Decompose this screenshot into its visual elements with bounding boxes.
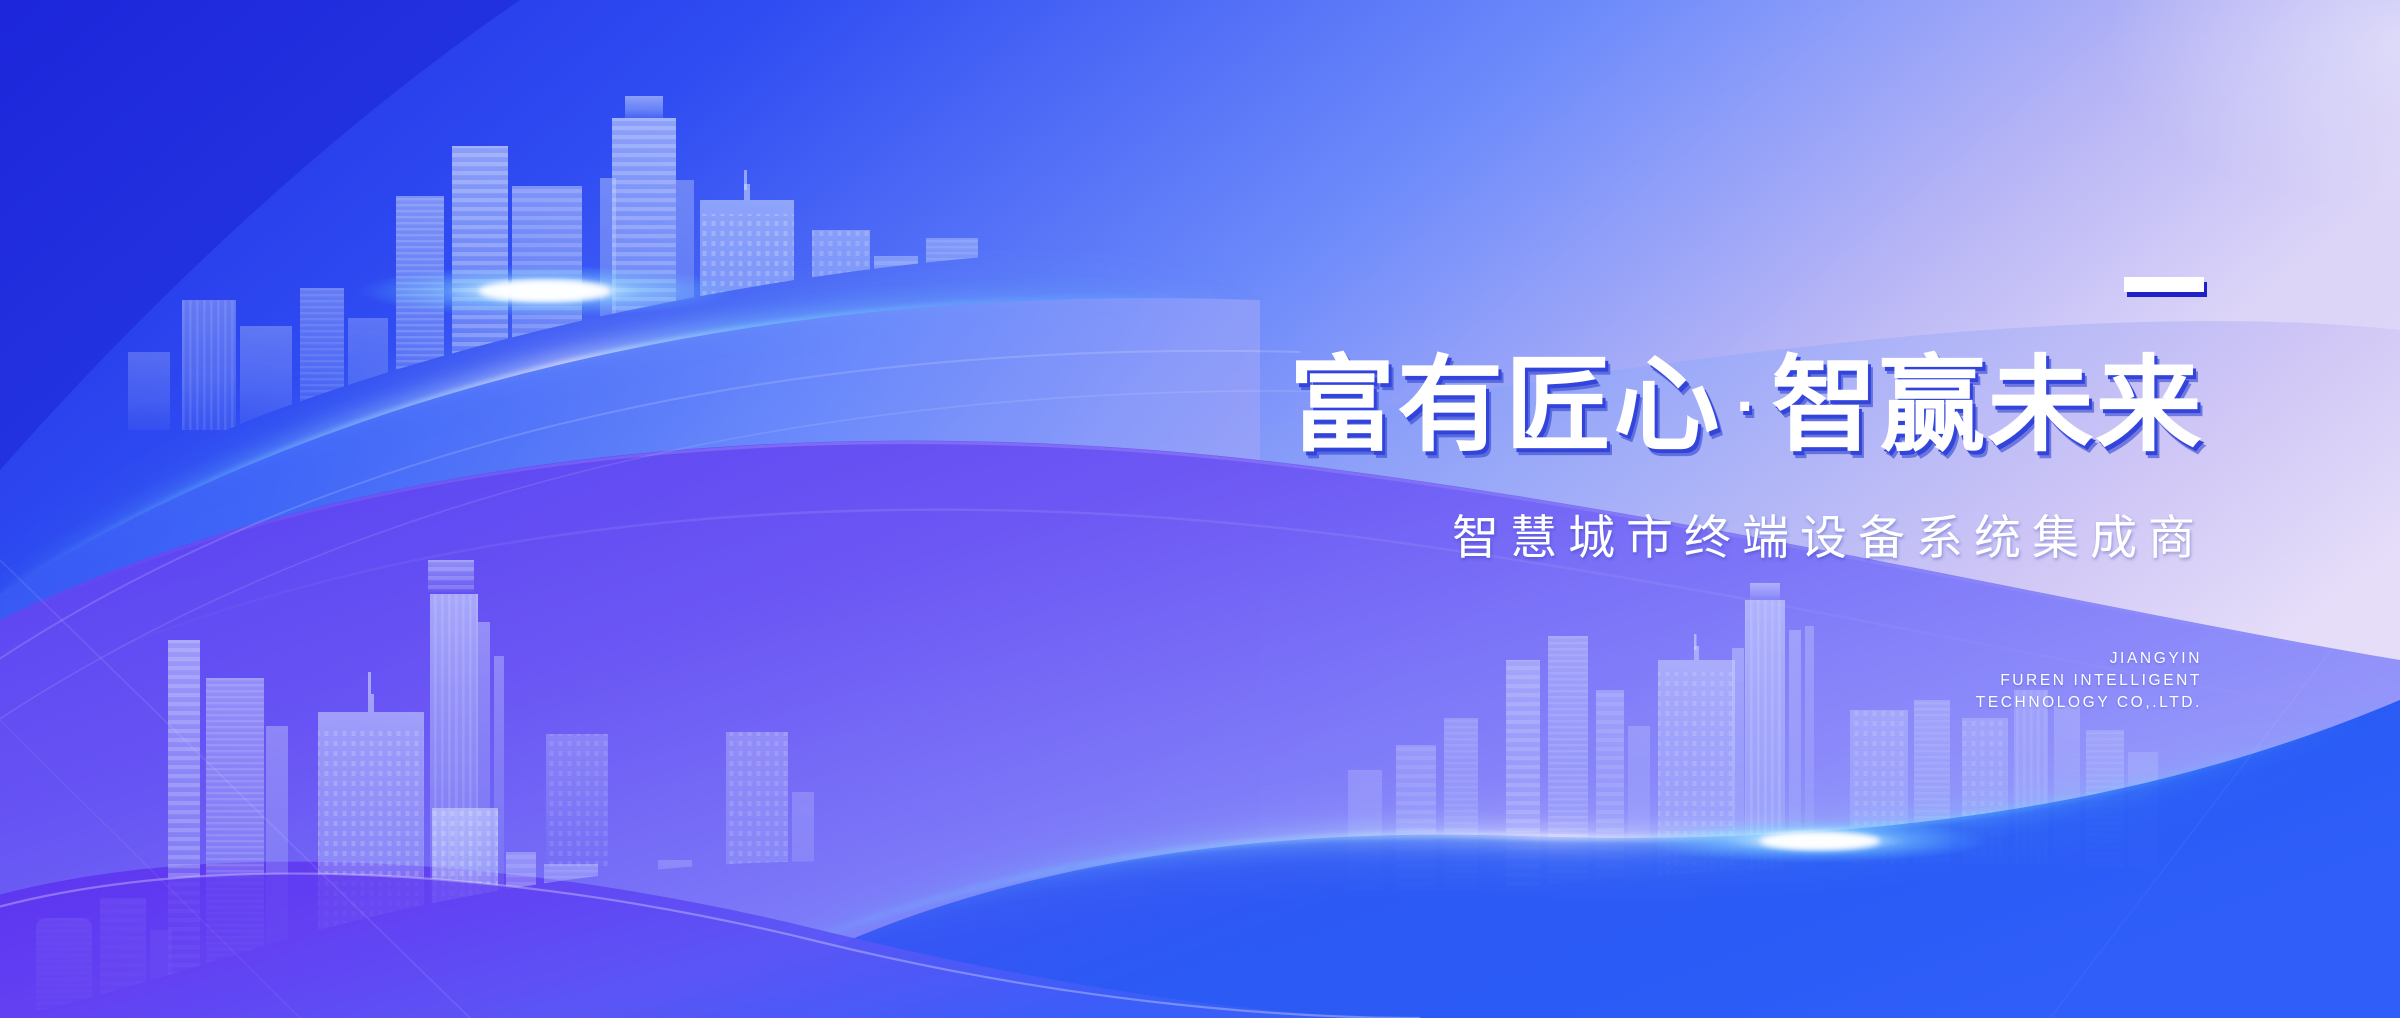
background-artwork bbox=[0, 0, 2400, 1018]
promotional-banner: 富有匠心·智赢未来 智慧城市终端设备系统集成商 JIANGYIN FUREN I… bbox=[0, 0, 2400, 1018]
